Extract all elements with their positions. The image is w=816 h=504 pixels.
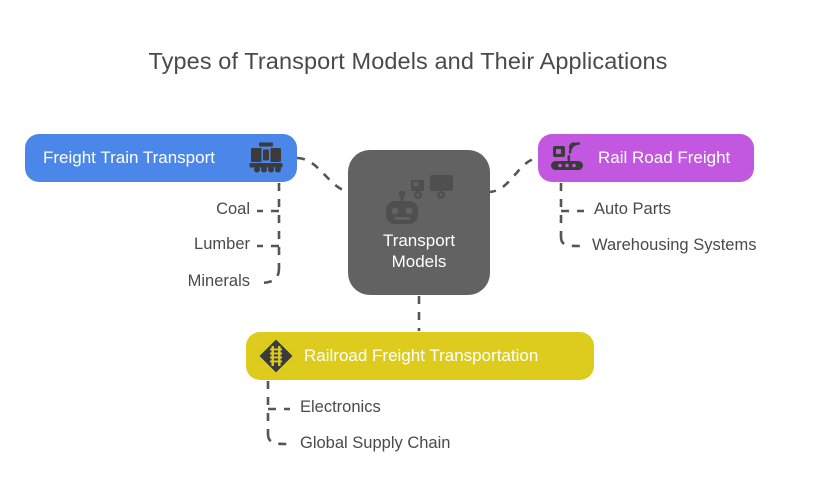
- leaf-label-lumber: Lumber: [60, 235, 250, 254]
- connector-leaf-warehousing: [561, 237, 582, 246]
- branch-label-rail-road-freight: Rail Road Freight: [598, 148, 730, 168]
- branch-node-railroad-freight-transportation[interactable]: Railroad Freight Transportation: [246, 332, 594, 380]
- connector-leaf-minerals: [258, 268, 279, 283]
- router-wifi-icon: [550, 142, 588, 174]
- leaf-label-coal: Coal: [60, 200, 250, 219]
- connector-center-to-rail-road: [488, 158, 540, 192]
- center-node-label: Transport Models: [383, 230, 455, 272]
- branch-label-railroad-freight-transportation: Railroad Freight Transportation: [304, 346, 538, 366]
- leaf-label-global-supply-chain: Global Supply Chain: [300, 434, 450, 453]
- leaf-label-minerals: Minerals: [60, 272, 250, 291]
- branch-node-freight-train-transport[interactable]: Freight Train Transport: [25, 134, 297, 182]
- center-node-label-line2: Models: [392, 252, 447, 271]
- railroad-crossing-diamond-icon: [258, 338, 294, 374]
- leaf-label-warehousing-systems: Warehousing Systems: [592, 236, 756, 255]
- connector-leaf-global-supply-chain: [268, 434, 290, 444]
- robot-face-icon: [382, 190, 422, 226]
- train-car-icon: [249, 142, 283, 174]
- center-node-icons: [382, 174, 456, 226]
- branch-node-rail-road-freight[interactable]: Rail Road Freight: [538, 134, 754, 182]
- center-node-label-line1: Transport: [383, 231, 455, 250]
- branch-label-freight-train-transport: Freight Train Transport: [43, 148, 215, 168]
- connector-center-to-freight-train: [297, 158, 352, 192]
- leaf-label-auto-parts: Auto Parts: [594, 200, 671, 219]
- leaf-label-electronics: Electronics: [300, 398, 381, 417]
- center-node-transport-models[interactable]: Transport Models: [348, 150, 490, 295]
- mindmap-canvas: Types of Transport Models and Their Appl…: [0, 0, 816, 504]
